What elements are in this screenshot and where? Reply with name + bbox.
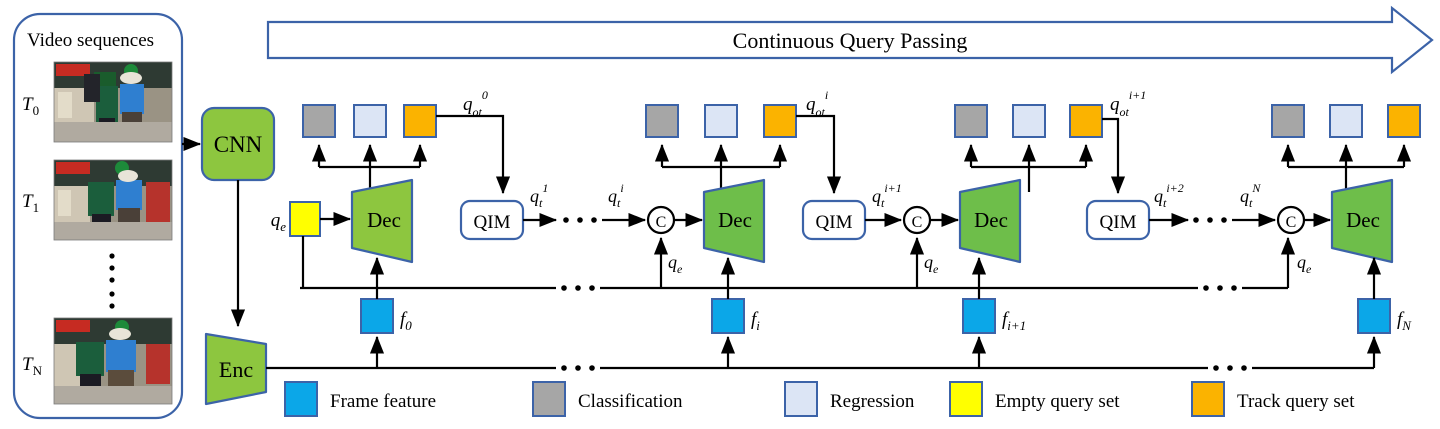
legend-swatch-track-query-set bbox=[1192, 382, 1224, 416]
concat-node-stage-i: C bbox=[648, 207, 674, 233]
qim-label-stage-i: QIM bbox=[816, 212, 853, 233]
track-query-box-stage-i bbox=[764, 105, 796, 137]
legend-label-track-query-set: Track query set bbox=[1237, 391, 1355, 412]
empty-query-box-stage-0 bbox=[290, 202, 320, 236]
video-sequences-panel: Video sequences T0 bbox=[14, 14, 182, 418]
legend-label-regression: Regression bbox=[830, 391, 915, 412]
video-frame-t0 bbox=[54, 62, 172, 142]
track-query-box-stage-N bbox=[1388, 105, 1420, 137]
regression-box-stage-N bbox=[1330, 105, 1362, 137]
classification-box-stage-N bbox=[1272, 105, 1304, 137]
dec-block-stage-i[interactable]: Dec bbox=[704, 180, 764, 262]
regression-box-stage-0 bbox=[354, 105, 386, 137]
track-query-box-stage-0 bbox=[404, 105, 436, 137]
cnn-label: CNN bbox=[214, 132, 263, 157]
dec-block-stage-0[interactable]: Dec bbox=[352, 180, 412, 262]
legend-swatch-empty-query-set bbox=[950, 382, 982, 416]
dec-block-stage-N[interactable]: Dec bbox=[1332, 180, 1392, 262]
enc-block[interactable]: Enc bbox=[206, 334, 266, 404]
dec-block-stage-i1[interactable]: Dec bbox=[960, 180, 1020, 262]
video-panel-title: Video sequences bbox=[27, 30, 154, 51]
legend-swatch-frame-feature bbox=[285, 382, 317, 416]
legend-swatch-classification bbox=[533, 382, 565, 416]
qim-block-stage-0[interactable]: QIM bbox=[461, 201, 523, 239]
dec-label-stage-i: Dec bbox=[718, 208, 752, 232]
legend-label-classification: Classification bbox=[578, 391, 683, 412]
classification-box-stage-0 bbox=[303, 105, 335, 137]
concat-node-stage-i1: C bbox=[904, 207, 930, 233]
legend-label-frame-feature: Frame feature bbox=[330, 391, 436, 412]
frame-feature-box-stage-0 bbox=[361, 299, 393, 333]
frame-feature-box-stage-i1 bbox=[963, 299, 995, 333]
stage-i-outputs bbox=[646, 105, 796, 137]
dec-label-stage-i1: Dec bbox=[974, 208, 1008, 232]
banner-title: Continuous Query Passing bbox=[733, 28, 968, 53]
dec-label-stage-N: Dec bbox=[1346, 208, 1380, 232]
stage-0-outputs bbox=[303, 105, 436, 137]
stage-i1-outputs bbox=[955, 105, 1102, 137]
legend-swatch-regression bbox=[785, 382, 817, 416]
track-query-box-stage-i1 bbox=[1070, 105, 1102, 137]
qim-label-stage-0: QIM bbox=[474, 212, 511, 233]
legend-label-empty-query-set: Empty query set bbox=[995, 391, 1120, 412]
enc-label: Enc bbox=[219, 357, 253, 382]
regression-box-stage-i1 bbox=[1013, 105, 1045, 137]
qim-block-stage-i[interactable]: QIM bbox=[803, 201, 865, 239]
qim-label-stage-i1: QIM bbox=[1100, 212, 1137, 233]
regression-box-stage-i bbox=[705, 105, 737, 137]
concat-label-stage-i: C bbox=[656, 214, 667, 231]
figure-root: Video sequences T0 bbox=[0, 0, 1440, 429]
classification-box-stage-i bbox=[646, 105, 678, 137]
cnn-block[interactable]: CNN bbox=[202, 108, 274, 180]
video-frame-t1 bbox=[54, 160, 172, 240]
dec-label-stage-0: Dec bbox=[367, 208, 401, 232]
concat-label-stage-i1: C bbox=[912, 214, 923, 231]
concat-node-stage-N: C bbox=[1278, 207, 1304, 233]
frame-feature-box-stage-i bbox=[712, 299, 744, 333]
frame-feature-box-stage-N bbox=[1358, 299, 1390, 333]
concat-label-stage-N: C bbox=[1286, 214, 1297, 231]
qim-block-stage-i1[interactable]: QIM bbox=[1087, 201, 1149, 239]
video-frame-tn bbox=[54, 318, 172, 404]
stage-N-outputs bbox=[1272, 105, 1420, 137]
classification-box-stage-i1 bbox=[955, 105, 987, 137]
